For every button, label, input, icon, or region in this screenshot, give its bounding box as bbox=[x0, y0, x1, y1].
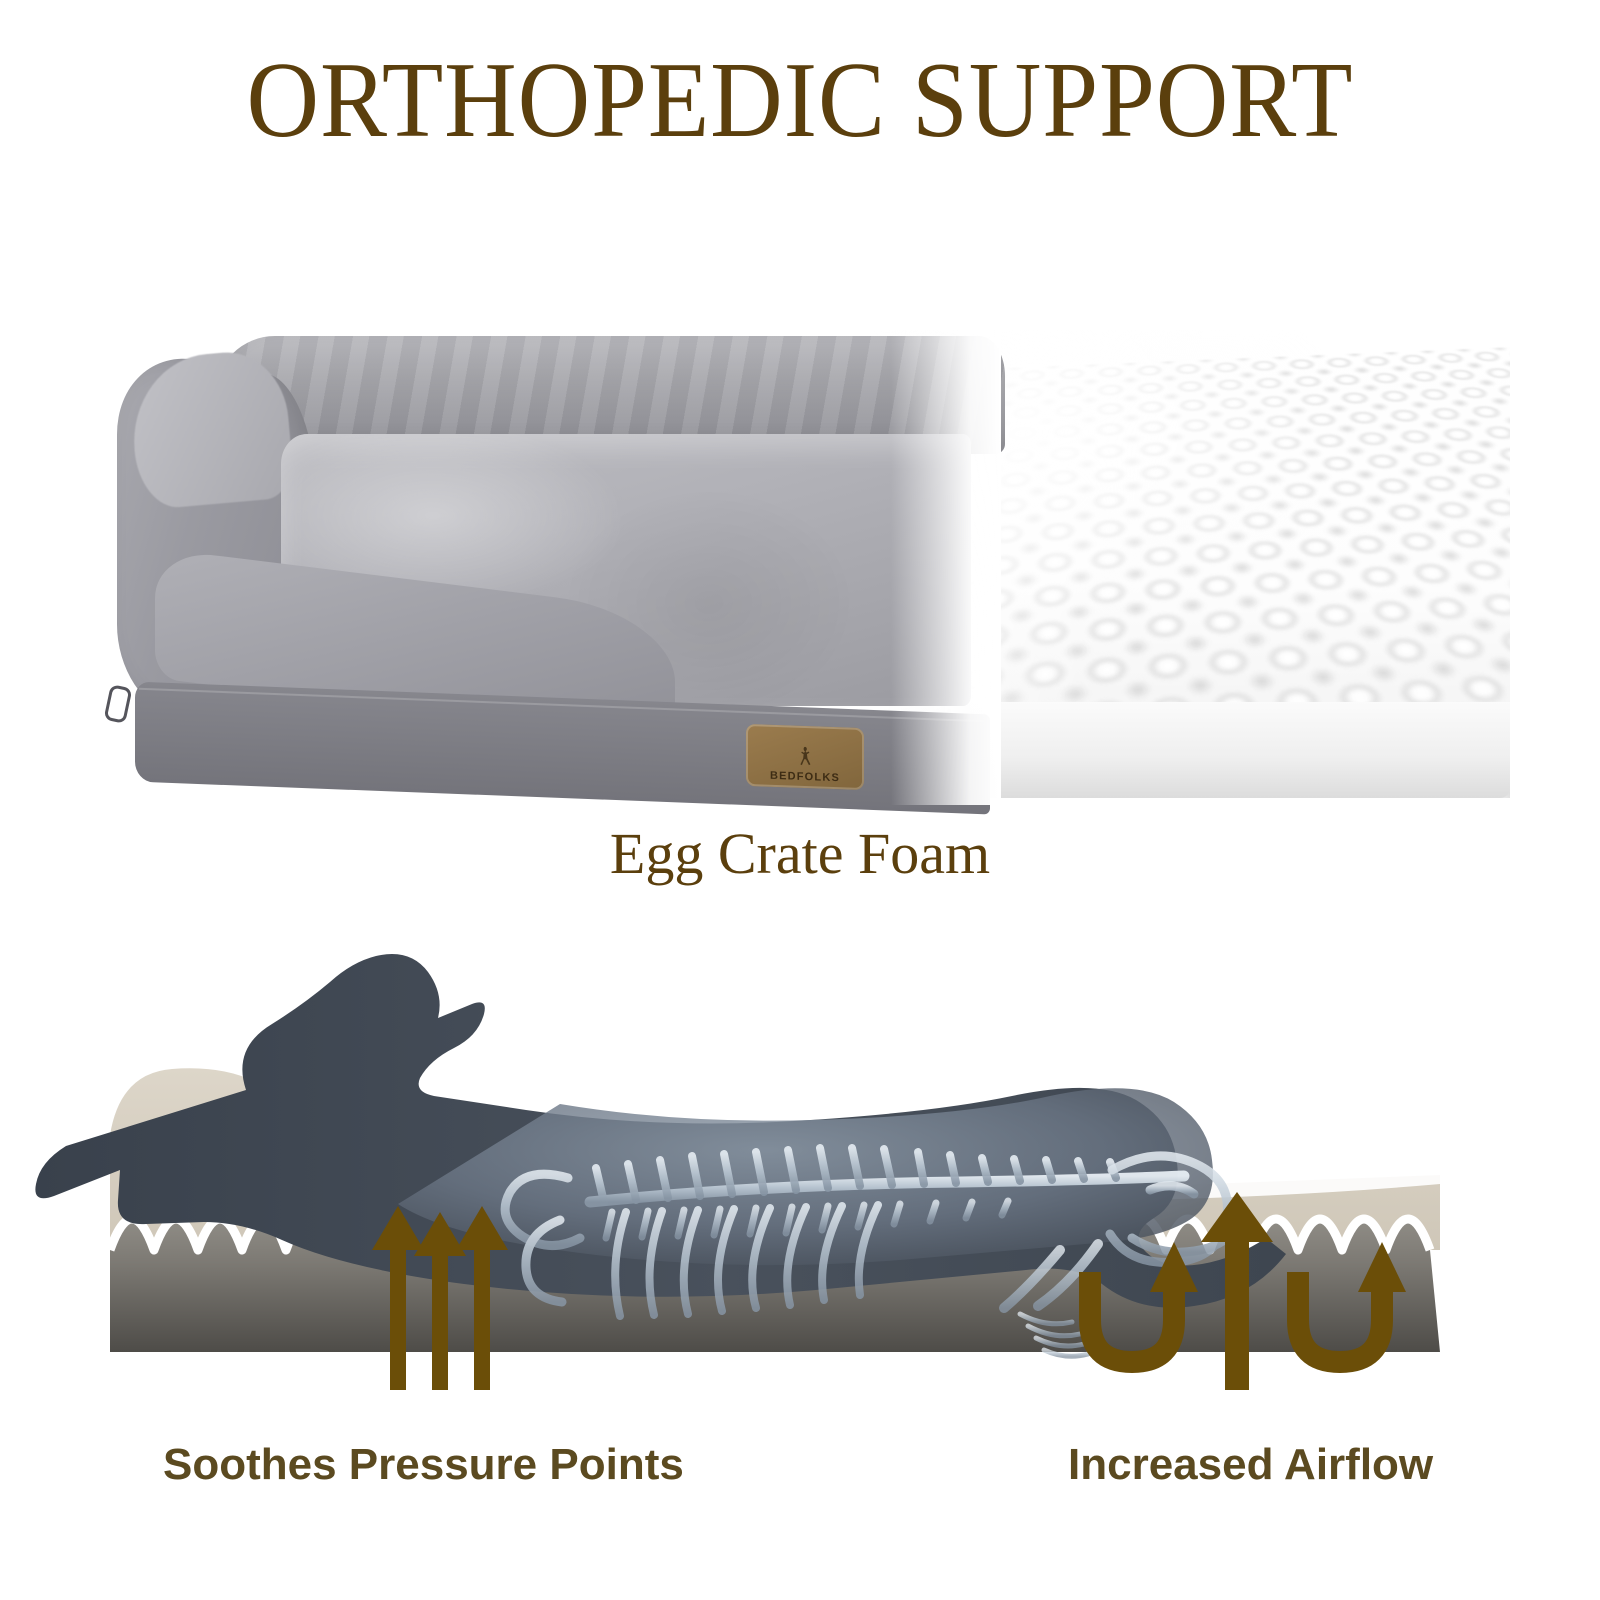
label-soothes-pressure-points: Soothes Pressure Points bbox=[163, 1440, 684, 1490]
infographic-canvas: ORTHOPEDIC SUPPORT BEDFOLKS bbox=[0, 0, 1600, 1600]
brand-tag: BEDFOLKS bbox=[746, 724, 864, 790]
pressure-arrows bbox=[372, 1206, 508, 1390]
label-increased-airflow: Increased Airflow bbox=[1068, 1440, 1433, 1490]
dog-mark-icon bbox=[794, 745, 816, 770]
dog-bed-fabric: BEDFOLKS bbox=[95, 330, 995, 805]
cross-section-diagram bbox=[0, 920, 1600, 1390]
caption-egg-crate-foam: Egg Crate Foam bbox=[0, 820, 1600, 887]
feature-labels: Soothes Pressure Points Increased Airflo… bbox=[0, 1440, 1600, 1510]
zipper-pull-icon bbox=[103, 684, 132, 724]
page-title: ORTHOPEDIC SUPPORT bbox=[56, 44, 1544, 157]
product-photo: BEDFOLKS bbox=[95, 330, 1510, 805]
brand-tag-label: BEDFOLKS bbox=[770, 770, 840, 784]
